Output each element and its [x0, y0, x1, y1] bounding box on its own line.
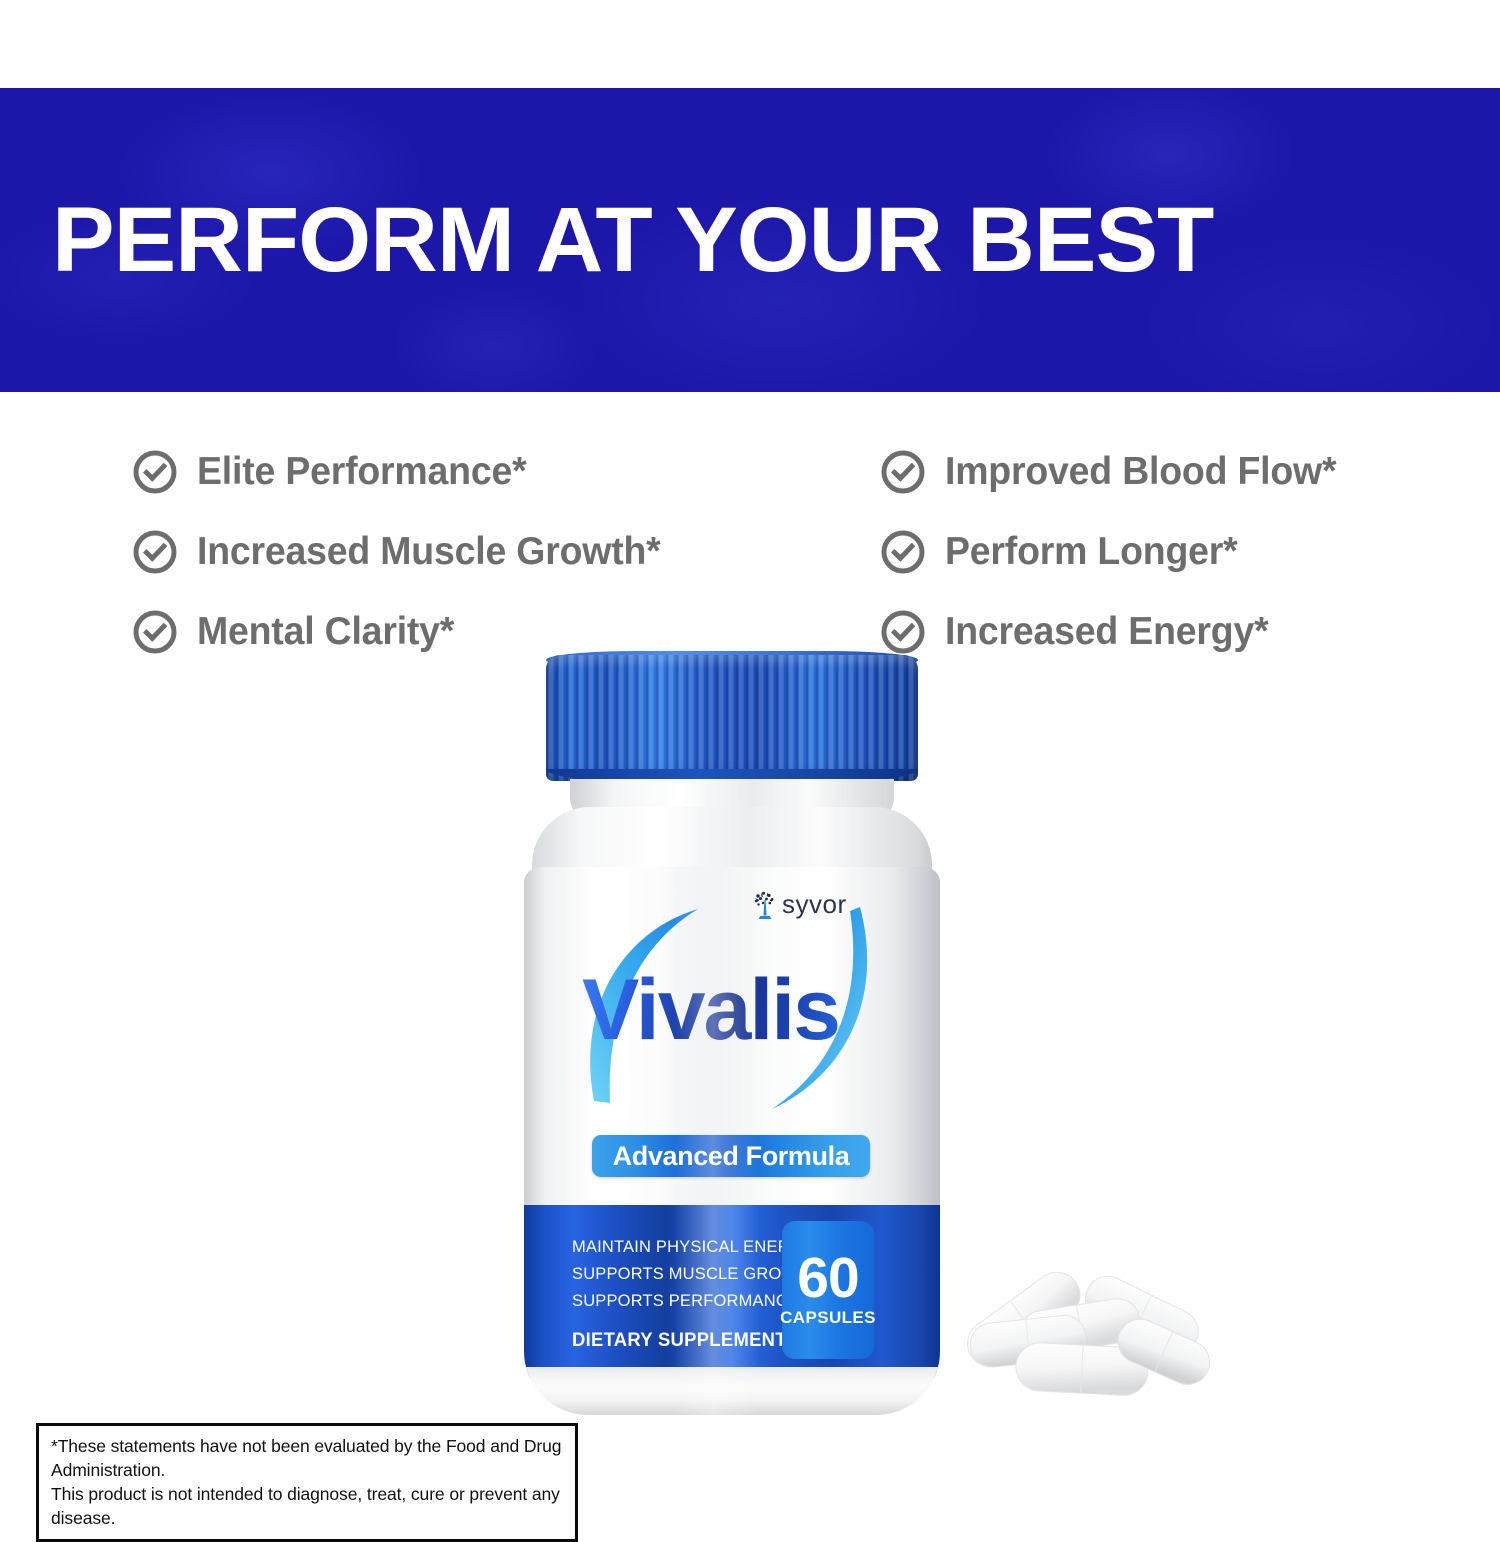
white-capsules-pile [930, 1245, 1210, 1425]
benefit-label: Elite Performance* [197, 450, 526, 494]
benefit-label: Mental Clarity* [197, 610, 454, 654]
check-circle-icon [880, 529, 926, 575]
product-bottle: syvor Vivalis Advanced Formula MAINTAIN … [518, 655, 946, 1415]
benefit-label: Improved Blood Flow* [945, 450, 1336, 494]
claim-item: SUPPORTS MUSCLE GROWTH* [572, 1260, 805, 1287]
capsule-count-unit: CAPSULES [780, 1308, 876, 1328]
benefit-item: Improved Blood Flow* [880, 432, 1500, 512]
check-circle-icon [132, 609, 178, 655]
brand-lockup: syvor [752, 889, 847, 920]
bottle-base-shadow [536, 1387, 928, 1415]
dietary-supplement-label: DIETARY SUPPLEMENT [572, 1330, 805, 1352]
benefit-label: Increased Energy* [945, 610, 1268, 654]
claims-list: MAINTAIN PHYSICAL ENERGY* SUPPORTS MUSCL… [572, 1233, 812, 1352]
tree-icon [752, 890, 778, 920]
check-circle-icon [132, 529, 178, 575]
benefit-item: Elite Performance* [132, 432, 752, 512]
bottle-cap [546, 655, 918, 781]
capsule-count-number: 60 [797, 1252, 858, 1304]
brand-name: syvor [782, 889, 847, 920]
benefit-item: Increased Muscle Growth* [132, 512, 752, 592]
check-circle-icon [132, 449, 178, 495]
check-circle-icon [880, 449, 926, 495]
product-name: Vivalis [582, 967, 882, 1053]
disclaimer-line-1: *These statements have not been evaluate… [51, 1434, 565, 1482]
benefits-section: Elite Performance* Increased Muscle Grow… [0, 432, 1500, 672]
benefit-label: Increased Muscle Growth* [197, 530, 661, 574]
bottle-body: syvor Vivalis Advanced Formula MAINTAIN … [524, 867, 940, 1415]
advanced-formula-label: Advanced Formula [613, 1141, 850, 1172]
check-circle-icon [880, 609, 926, 655]
advanced-formula-badge: Advanced Formula [592, 1135, 870, 1177]
disclaimer-line-2: This product is not intended to diagnose… [51, 1482, 565, 1530]
benefit-item: Increased Energy* [880, 592, 1500, 672]
claim-item: SUPPORTS PERFORMANCE* [572, 1287, 805, 1314]
benefits-column-left: Elite Performance* Increased Muscle Grow… [0, 432, 752, 672]
benefit-label: Perform Longer* [945, 530, 1238, 574]
capsule-count-panel: 60 CAPSULES [782, 1221, 874, 1359]
benefit-item: Perform Longer* [880, 512, 1500, 592]
benefits-column-right: Improved Blood Flow* Perform Longer* Inc… [752, 432, 1500, 672]
page-title: PERFORM AT YOUR BEST [52, 194, 1213, 286]
claim-item: MAINTAIN PHYSICAL ENERGY* [572, 1233, 805, 1260]
header-banner: PERFORM AT YOUR BEST [0, 88, 1500, 392]
fda-disclaimer-box: *These statements have not been evaluate… [36, 1423, 578, 1542]
